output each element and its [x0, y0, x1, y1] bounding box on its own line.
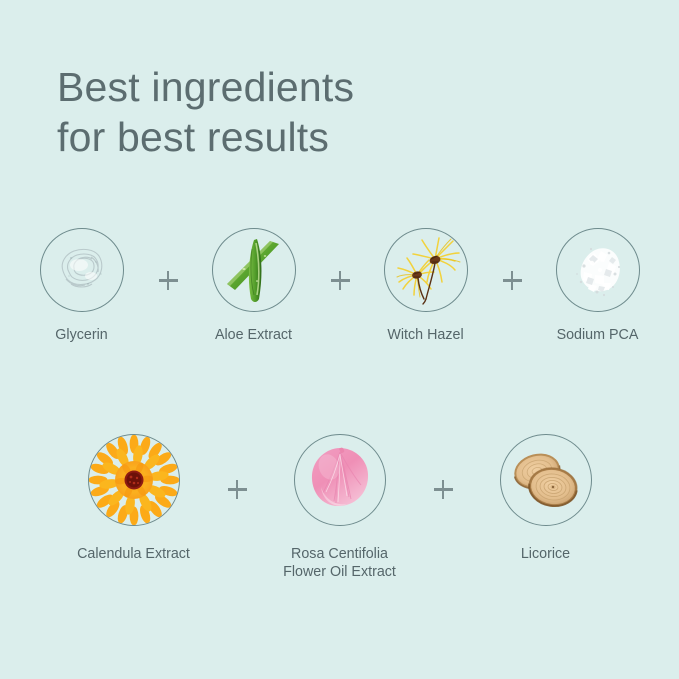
licorice-circle: [500, 434, 592, 526]
sodium-pca-powder-icon: [557, 229, 639, 311]
witch-hazel-circle: [384, 228, 468, 312]
ingredient-label: Calendula Extract: [77, 545, 190, 563]
page-title-line-2: for best results: [57, 112, 577, 162]
witch-hazel-flower-icon: [385, 229, 467, 311]
licorice-root-icon: [501, 435, 591, 525]
ingredient-item-aloe-extract: Aloe Extract: [192, 228, 316, 344]
plus-separator: [209, 434, 265, 546]
ingredient-label: Witch Hazel: [387, 326, 463, 344]
ingredient-row-2: Calendula Extract: [0, 434, 679, 581]
glycerin-gel-icon: [41, 229, 123, 311]
page-title-line-1: Best ingredients: [57, 62, 577, 112]
ingredient-item-sodium-pca: Sodium PCA: [536, 228, 660, 344]
ingredients-infographic: Best ingredients for best results: [0, 0, 679, 679]
calendula-circle: [88, 434, 180, 526]
ingredient-label: Glycerin: [55, 326, 107, 344]
plus-separator: [144, 228, 192, 332]
plus-separator: [488, 228, 536, 332]
ingredient-label: Rosa Centifolia Flower Oil Extract: [283, 545, 396, 581]
plus-separator: [316, 228, 364, 332]
sodium-pca-circle: [556, 228, 640, 312]
aloe-circle: [212, 228, 296, 312]
rose-petal-circle: [294, 434, 386, 526]
calendula-flower-icon: [89, 435, 179, 525]
ingredient-item-licorice: Licorice: [471, 434, 621, 563]
ingredient-label: Aloe Extract: [215, 326, 292, 344]
glycerin-circle: [40, 228, 124, 312]
ingredient-item-calendula-extract: Calendula Extract: [59, 434, 209, 563]
aloe-leaf-icon: [213, 229, 295, 311]
ingredient-row-1: Glycerin: [0, 228, 679, 344]
ingredient-item-glycerin: Glycerin: [20, 228, 144, 344]
plus-separator: [415, 434, 471, 546]
page-title: Best ingredients for best results: [57, 62, 577, 162]
ingredient-item-rosa-centifolia: Rosa Centifolia Flower Oil Extract: [265, 434, 415, 581]
ingredient-item-witch-hazel: Witch Hazel: [364, 228, 488, 344]
ingredient-label: Licorice: [521, 545, 570, 563]
rose-petal-icon: [295, 435, 385, 525]
ingredient-label: Sodium PCA: [557, 326, 639, 344]
